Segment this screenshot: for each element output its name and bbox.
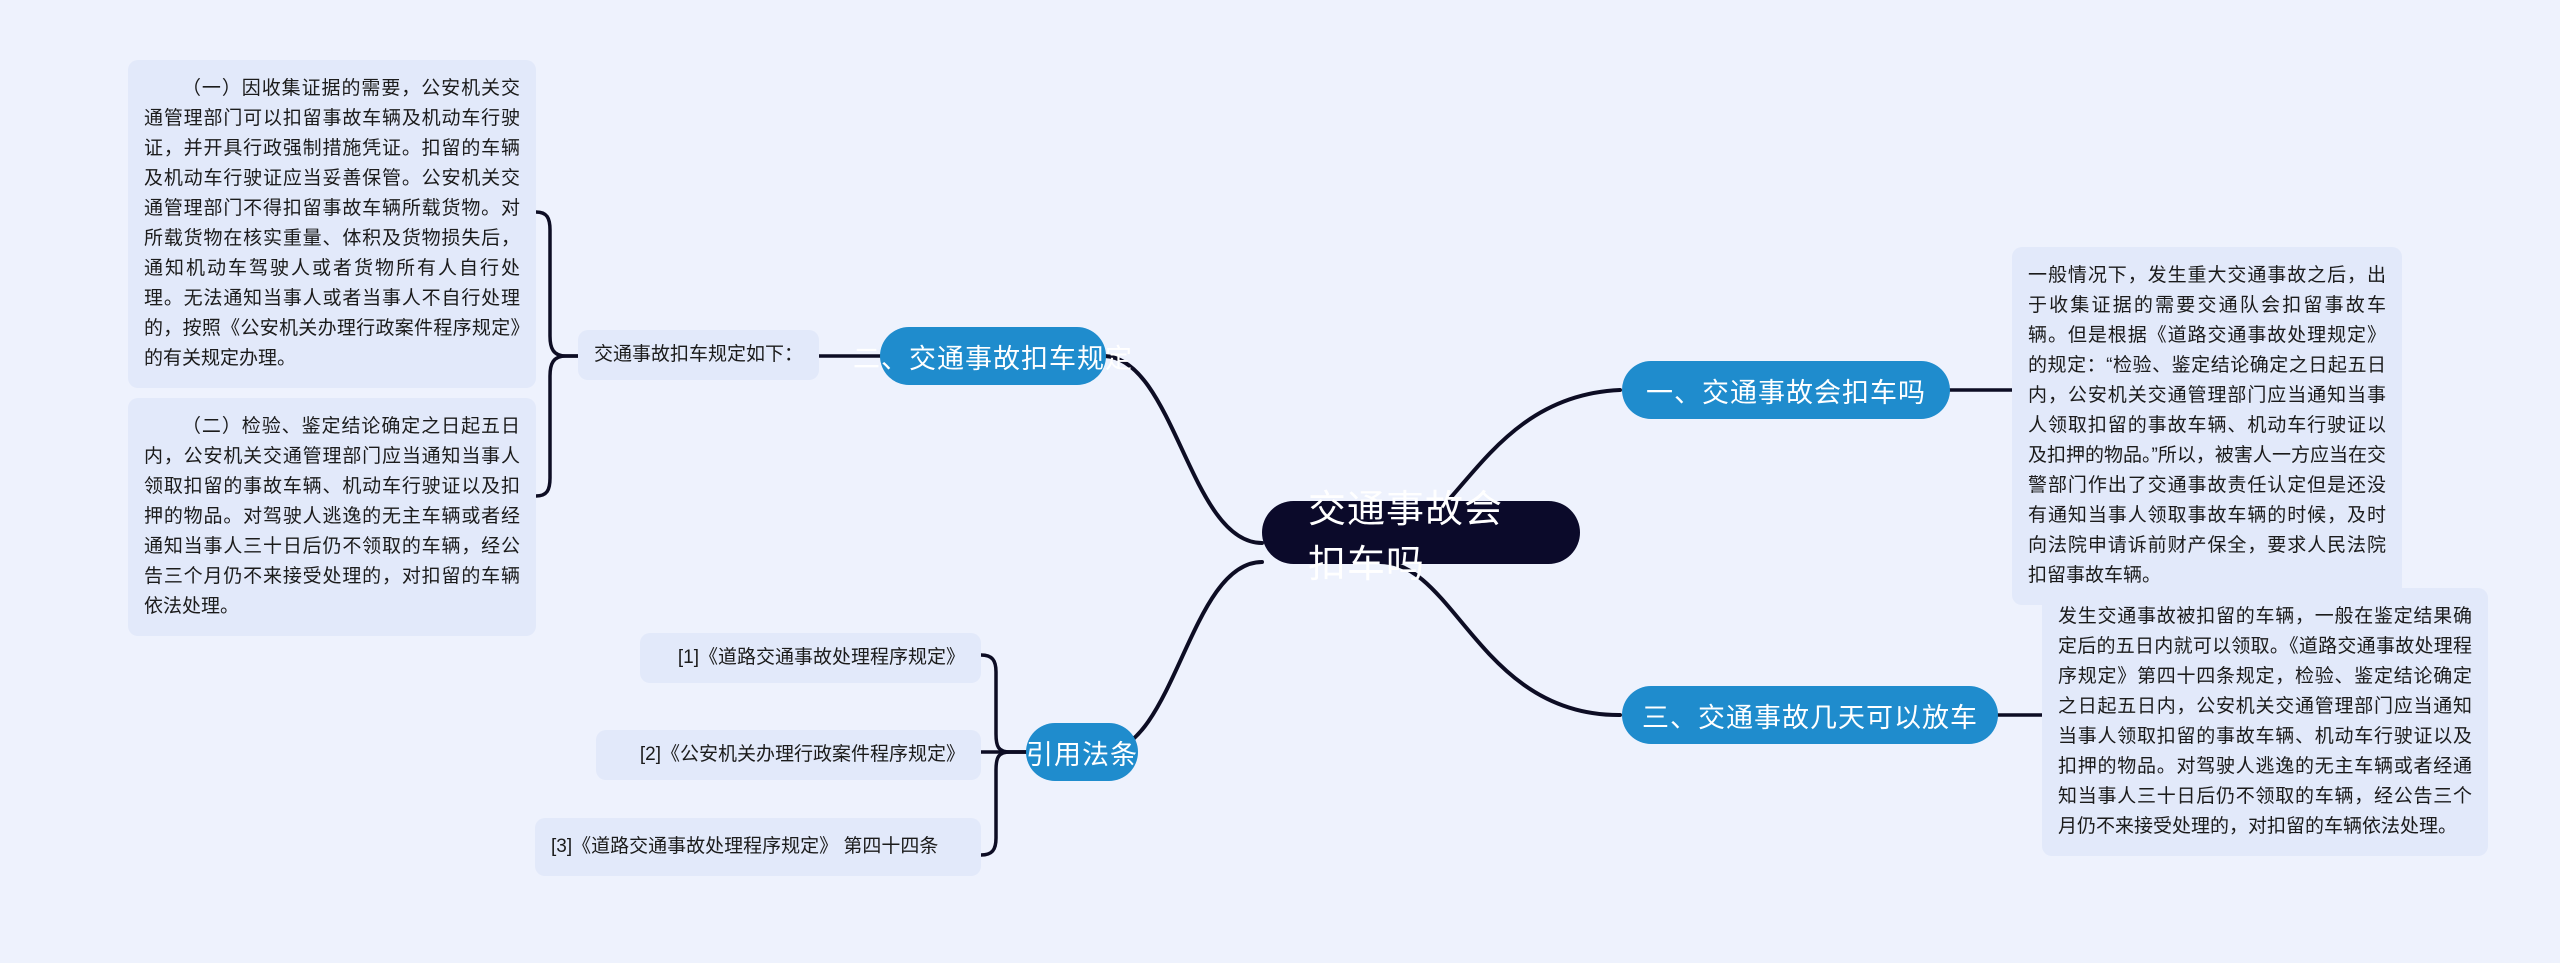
- leaf-box-right-top-text: 一般情况下，发生重大交通事故之后，出于收集证据的需要交通队会扣留事故车辆。但是根…: [2028, 265, 2386, 586]
- leaf-box-regulation-1-text: （一）因收集证据的需要，公安机关交通管理部门可以扣留事故车辆及机动车行驶证，并开…: [144, 78, 520, 369]
- citation-box-1-text: [1]《道路交通事故处理程序规定》: [678, 647, 965, 668]
- leaf-box-regulation-2-text: （二）检验、鉴定结论确定之日起五日内，公安机关交通管理部门应当通知当事人领取扣留…: [144, 416, 520, 617]
- connector-root-to-left-bottom: [1105, 562, 1262, 752]
- leaf-box-right-bottom[interactable]: 发生交通事故被扣留的车辆，一般在鉴定结果确定后的五日内就可以领取。《道路交通事故…: [2042, 588, 2488, 856]
- citation-box-2-text: [2]《公安机关办理行政案件程序规定》: [640, 744, 965, 765]
- connector-citations-to-leaf-1: [981, 655, 1028, 752]
- leaf-box-right-top[interactable]: 一般情况下，发生重大交通事故之后，出于收集证据的需要交通队会扣留事故车辆。但是根…: [2012, 247, 2402, 605]
- citation-box-3-text: [3]《道路交通事故处理程序规定》 第四十四条: [551, 836, 938, 857]
- branch-node-left-top-label: 二、交通事故扣车规定: [853, 337, 1133, 376]
- leaf-box-right-bottom-text: 发生交通事故被扣留的车辆，一般在鉴定结果确定后的五日内就可以领取。《道路交通事故…: [2058, 606, 2472, 837]
- branch-node-right-top[interactable]: 一、交通事故会扣车吗: [1622, 361, 1950, 419]
- branch-node-right-bottom[interactable]: 三、交通事故几天可以放车: [1622, 686, 1998, 744]
- citation-box-2[interactable]: [2]《公安机关办理行政案件程序规定》: [596, 730, 981, 780]
- branch-node-citations-label: 引用法条: [1026, 733, 1138, 772]
- leaf-box-regulation-2[interactable]: （二）检验、鉴定结论确定之日起五日内，公安机关交通管理部门应当通知当事人领取扣留…: [128, 398, 536, 636]
- citation-box-1[interactable]: [1]《道路交通事故处理程序规定》: [640, 633, 981, 683]
- branch-node-right-top-label: 一、交通事故会扣车吗: [1646, 371, 1926, 410]
- branch-node-right-bottom-label: 三、交通事故几天可以放车: [1642, 696, 1978, 735]
- branch-node-left-top[interactable]: 二、交通事故扣车规定: [880, 327, 1106, 385]
- connector-intermediate-to-leaf-1: [536, 212, 580, 356]
- leaf-box-regulation-1[interactable]: （一）因收集证据的需要，公安机关交通管理部门可以扣留事故车辆及机动车行驶证，并开…: [128, 60, 536, 388]
- connector-intermediate-to-leaf-2: [536, 356, 580, 496]
- connector-citations-to-leaf-3: [981, 752, 1028, 855]
- root-node[interactable]: 交通事故会扣车吗: [1262, 501, 1580, 564]
- root-node-label: 交通事故会扣车吗: [1308, 478, 1534, 588]
- intermediate-label-left-top-text: 交通事故扣车规定如下：: [594, 344, 803, 365]
- branch-node-citations[interactable]: 引用法条: [1026, 723, 1138, 781]
- mindmap-canvas: 交通事故会扣车吗 二、交通事故扣车规定 交通事故扣车规定如下： （一）因收集证据…: [0, 0, 2560, 963]
- citation-box-3[interactable]: [3]《道路交通事故处理程序规定》 第四十四条: [535, 818, 981, 876]
- connector-root-to-left-top: [1105, 356, 1262, 543]
- intermediate-label-left-top[interactable]: 交通事故扣车规定如下：: [578, 330, 819, 380]
